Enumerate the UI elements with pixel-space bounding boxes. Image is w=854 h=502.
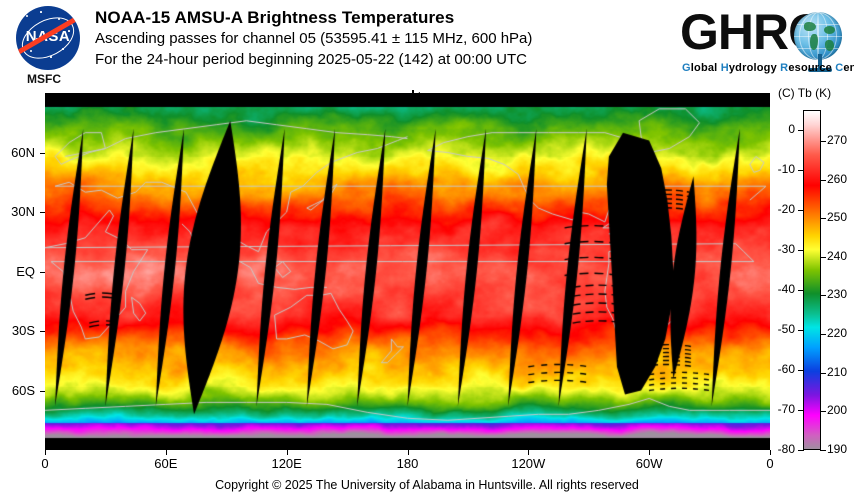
colorbar-label-celsius: -10 [769,162,795,176]
colorbar-label-kelvin: 250 [827,210,854,224]
y-tick [40,272,45,273]
x-tick [166,450,167,455]
y-axis-label: 30S [0,323,35,338]
colorbar-label-kelvin: 190 [827,442,854,456]
x-tick [287,450,288,455]
colorbar-label-kelvin: 200 [827,403,854,417]
x-axis-label: 180 [378,456,438,471]
y-axis-label: 30N [0,204,35,219]
colorbar-tick-celsius [798,210,804,211]
colorbar-tick-kelvin [820,450,826,451]
ghrc-logo: GHRC Global Hydrology Resource Center [680,4,846,82]
colorbar-tick-kelvin [820,141,826,142]
colorbar-tick-celsius [798,330,804,331]
x-axis-label: 60E [136,456,196,471]
y-tick [40,212,45,213]
colorbar-tick-celsius [798,130,804,131]
colorbar-tick-celsius [798,450,804,451]
colorbar-label-celsius: 0 [769,122,795,136]
colorbar-tick-kelvin [820,334,826,335]
colorbar-tick-kelvin [820,180,826,181]
colorbar-label-kelvin: 260 [827,172,854,186]
y-tick [40,153,45,154]
colorbar-tick-kelvin [820,218,826,219]
y-axis-label: EQ [0,264,35,279]
colorbar-tick-kelvin [820,295,826,296]
x-tick [528,450,529,455]
colorbar-label-kelvin: 240 [827,249,854,263]
colorbar-tick-kelvin [820,373,826,374]
colorbar-label-celsius: -40 [769,282,795,296]
y-axis-label: 60S [0,383,35,398]
nasa-meatball-icon: NASA [16,6,80,70]
nasa-logo: NASA MSFC [8,6,88,88]
colorbar-label-celsius: -60 [769,362,795,376]
brightness-temperature-heatmap[interactable] [45,93,770,450]
colorbar-tick-celsius [798,410,804,411]
x-axis-label: 120W [498,456,558,471]
colorbar-label-celsius: -70 [769,402,795,416]
colorbar-label-celsius: -80 [769,442,795,456]
colorbar-label-kelvin: 270 [827,133,854,147]
subtitle-period: For the 24-hour period beginning 2025-05… [95,49,532,70]
x-tick [45,450,46,455]
colorbar-label-celsius: -50 [769,322,795,336]
x-axis-label: 0 [740,456,800,471]
colorbar-tick-kelvin [820,257,826,258]
x-axis-label: 0 [15,456,75,471]
colorbar-tick-celsius [798,170,804,171]
colorbar-label-kelvin: 210 [827,365,854,379]
x-tick [649,450,650,455]
x-tick [408,450,409,455]
title-block: NOAA-15 AMSU-A Brightness Temperatures A… [95,7,532,70]
colorbar-tick-celsius [798,290,804,291]
page-title: NOAA-15 AMSU-A Brightness Temperatures [95,7,532,28]
colorbar-tick-celsius [798,250,804,251]
colorbar-label-kelvin: 220 [827,326,854,340]
colorbar-label-celsius: -30 [769,242,795,256]
map-plot-area[interactable] [45,93,770,450]
colorbar-label-celsius: -20 [769,202,795,216]
swath-direction-arrow-icon [409,90,449,102]
colorbar-tick-kelvin [820,411,826,412]
y-tick [40,331,45,332]
y-tick [40,391,45,392]
x-axis-label: 60W [619,456,679,471]
colorbar-header: (C) Tb (K) [778,86,831,100]
colorbar [803,110,821,450]
globe-icon [794,12,842,60]
nasa-center-label: MSFC [8,72,80,86]
colorbar-label-kelvin: 230 [827,287,854,301]
ghrc-tagline: Global Hydrology Resource Center [682,62,854,74]
x-axis-label: 120E [257,456,317,471]
copyright-notice: Copyright © 2025 The University of Alaba… [0,478,854,492]
y-axis-label: 60N [0,145,35,160]
colorbar-tick-celsius [798,370,804,371]
subtitle-channel: Ascending passes for channel 05 (53595.4… [95,28,532,49]
